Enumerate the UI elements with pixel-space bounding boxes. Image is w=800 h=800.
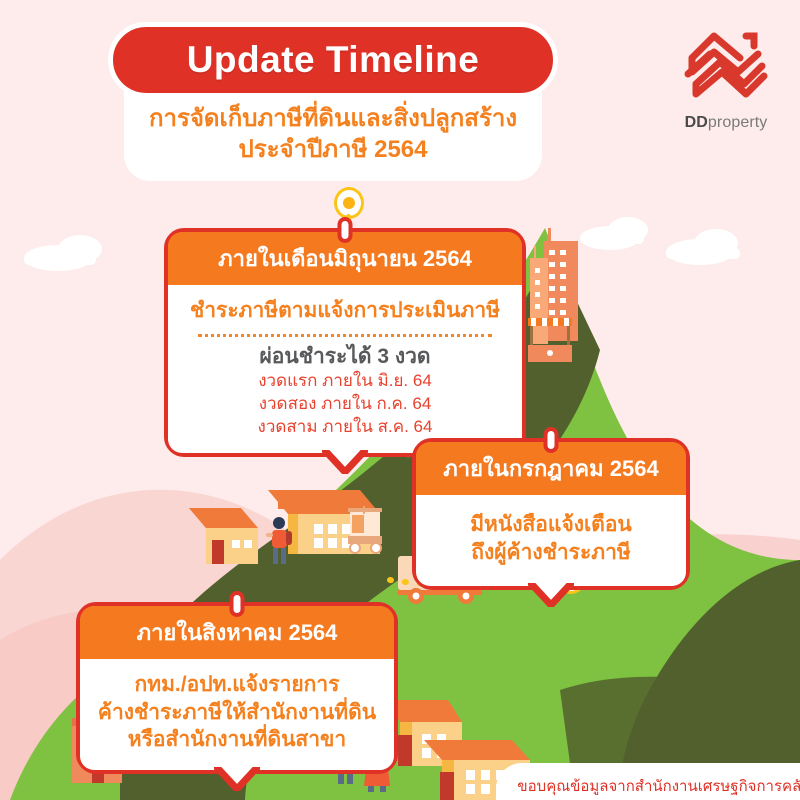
header: Update Timeline การจัดเก็บภาษีที่ดินและส… xyxy=(108,22,558,181)
page-title: Update Timeline xyxy=(108,22,558,98)
timeline-card-2: ภายในกรกฎาคม 2564 มีหนังสือแจ้งเตือน ถึง… xyxy=(412,438,690,590)
page-title-text: Update Timeline xyxy=(187,39,480,81)
timeline-card-2-body: ภายในกรกฎาคม 2564 มีหนังสือแจ้งเตือน ถึง… xyxy=(412,438,690,590)
timeline-card-3-line-2: ค้างชำระภาษีให้สำนักงานที่ดิน xyxy=(90,699,384,727)
timeline-card-3-heading-text: ภายในสิงหาคม 2564 xyxy=(137,620,338,645)
timeline-card-3-line-3: หรือสำนักงานที่ดินสาขา xyxy=(90,726,384,754)
timeline-card-2-heading-text: ภายในกรกฎาคม 2564 xyxy=(443,456,658,481)
card-pin-icon xyxy=(544,427,559,453)
footer-credit: ขอบคุณข้อมูลจากสำนักงานเศรษฐกิจการคลัง xyxy=(496,763,800,800)
ddproperty-chevron-logo-icon xyxy=(674,24,778,112)
timeline-card-1-body: ภายในเดือนมิถุนายน 2564 ชำระภาษีตามแจ้งก… xyxy=(164,228,526,457)
card-divider xyxy=(198,334,492,337)
card-pin-icon xyxy=(230,591,245,617)
timeline-card-1-heading-text: ภายในเดือนมิถุนายน 2564 xyxy=(218,246,472,271)
timeline-card-3: ภายในสิงหาคม 2564 กทม./อปท.แจ้งรายการ ค้… xyxy=(76,602,398,774)
timeline-card-2-line-1: มีหนังสือแจ้งเตือน xyxy=(430,511,672,539)
card-notch-icon xyxy=(528,583,574,607)
brand-name-light: property xyxy=(708,114,768,131)
timeline-card-3-line-1: กทม./อปท.แจ้งรายการ xyxy=(90,671,384,699)
timeline-card-3-body: ภายในสิงหาคม 2564 กทม./อปท.แจ้งรายการ ค้… xyxy=(76,602,398,774)
timeline-card-1-primary: ชำระภาษีตามแจ้งการประเมินภาษี xyxy=(182,297,508,325)
timeline-card-1-item-0: งวดแรก ภายใน มิ.ย. 64 xyxy=(182,370,508,393)
timeline-card-1-emphasis: ผ่อนชำระได้ 3 งวด xyxy=(182,343,508,370)
timeline-card-1-item-1: งวดสอง ภายใน ก.ค. 64 xyxy=(182,393,508,416)
timeline-card-1-content: ชำระภาษีตามแจ้งการประเมินภาษี ผ่อนชำระได… xyxy=(168,285,522,453)
subtitle-line-2: ประจำปีภาษี 2564 xyxy=(138,135,528,166)
subtitle-line-1: การจัดเก็บภาษีที่ดินและสิ่งปลูกสร้าง xyxy=(138,104,528,135)
infographic-canvas: DDproperty Update Timeline การจัดเก็บภาษ… xyxy=(0,0,800,800)
card-notch-icon xyxy=(322,450,368,474)
footer-credit-text: ขอบคุณข้อมูลจากสำนักงานเศรษฐกิจการคลัง xyxy=(517,774,800,798)
timeline-card-3-content: กทม./อปท.แจ้งรายการ ค้างชำระภาษีให้สำนัก… xyxy=(80,659,394,770)
card-pin-icon xyxy=(338,217,353,243)
timeline-card-1-item-2: งวดสาม ภายใน ส.ค. 64 xyxy=(182,416,508,439)
timeline-card-2-content: มีหนังสือแจ้งเตือน ถึงผู้ค้างชำระภาษี xyxy=(416,495,686,586)
timeline-card-2-line-2: ถึงผู้ค้างชำระภาษี xyxy=(430,539,672,567)
timeline-card-1: ภายในเดือนมิถุนายน 2564 ชำระภาษีตามแจ้งก… xyxy=(164,228,526,457)
brand-name: DDproperty xyxy=(664,114,788,132)
dot-core xyxy=(343,197,355,209)
brand-name-bold: DD xyxy=(685,114,708,131)
card-notch-icon xyxy=(214,767,260,791)
brand-logo: DDproperty xyxy=(664,24,788,148)
